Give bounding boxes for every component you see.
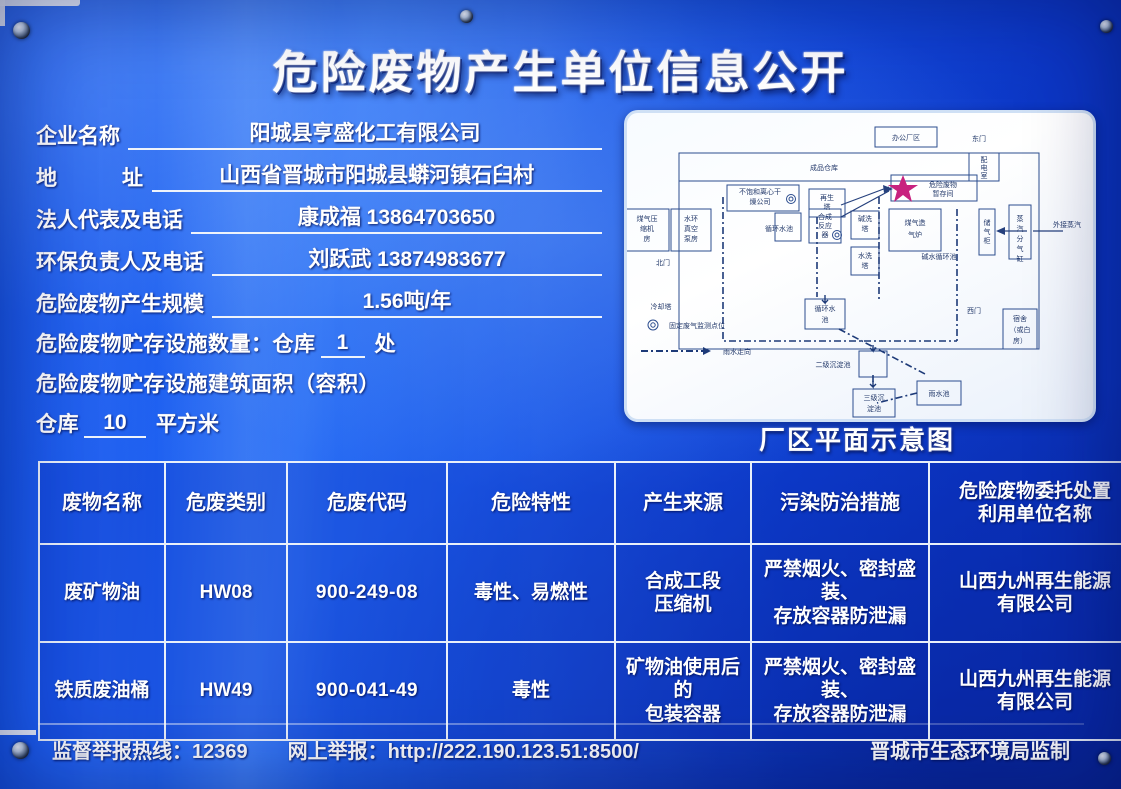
diagram-legend-text-1: 固定废气监测点位 — [669, 321, 725, 330]
diagram-label-external-steam: 外接蒸汽 — [1053, 220, 1081, 229]
diagram-label-compressor-1: 煤气压 — [637, 214, 658, 223]
diagram-label-separator-4: 气 — [1017, 244, 1024, 253]
th-entrusted-unit-line1: 危险废物委托处置 — [933, 480, 1121, 503]
value-generation-scale: 1.56吨/年 — [212, 285, 602, 318]
hazardous-waste-table: 废物名称 危废类别 危废代码 危险特性 产生来源 污染防治措施 危险废物委托处置… — [38, 461, 1121, 741]
cell-unit-line1: 山西九州再生能源 — [933, 570, 1121, 593]
diagram-label-third-sediment-2: 淀池 — [867, 404, 881, 413]
th-waste-code: 危废代码 — [287, 462, 447, 544]
cell-control-measures: 严禁烟火、密封盛装、 存放容器防泄漏 — [751, 642, 929, 740]
cell-waste-code: 900-041-49 — [287, 642, 447, 740]
value-storage-count: 1 — [321, 331, 365, 358]
diagram-label-west-gate: 西门 — [967, 306, 981, 315]
diagram-label-third-sediment-1: 三级沉 — [864, 393, 885, 402]
cell-hazard-property: 毒性 — [447, 642, 615, 740]
diagram-label-alkali-2: 塔 — [862, 224, 869, 233]
label-storage-area: 危险废物贮存设施建筑面积（容积） — [36, 368, 380, 398]
diagram-label-power-room: 配 — [981, 156, 988, 164]
diagram-label-gas-cabinet-3: 柜 — [984, 236, 991, 245]
diagram-label-north-gate: 北门 — [656, 258, 670, 267]
diagram-legend-text-2: 雨水走向 — [723, 347, 751, 356]
cell-source-line2: 压缩机 — [619, 593, 747, 616]
diagram-label-gas-cabinet-1: 储 — [984, 218, 991, 227]
field-address: 地 址 山西省晋城市阳城县蟒河镇石臼村 — [36, 150, 602, 192]
cell-control-line2: 存放容器防泄漏 — [755, 605, 925, 628]
diagram-label-hazard-store-2: 暂存间 — [933, 189, 954, 198]
footer-divider — [38, 723, 1084, 725]
field-storage-area-title: 危险废物贮存设施建筑面积（容积） — [36, 358, 602, 398]
cell-entrusted-unit: 山西九州再生能源 有限公司 — [929, 642, 1121, 740]
value-warehouse-area: 10 — [84, 411, 146, 438]
diagram-label-dorm-3: 房） — [1013, 336, 1027, 345]
label-environment-officer: 环保负责人及电话 — [36, 246, 204, 276]
hazard-storage-star-icon — [888, 175, 918, 202]
label-storage-count: 危险废物贮存设施数量：仓库 — [36, 328, 316, 358]
cell-unit-line1: 山西九州再生能源 — [933, 668, 1121, 691]
diagram-label-circ-pool-2a: 循环水 — [815, 304, 836, 313]
diagram-label-second-sediment: 二级沉淀池 — [816, 360, 851, 369]
diagram-label-waterwash-1: 水洗 — [858, 251, 872, 260]
value-address: 山西省晋城市阳城县蟒河镇石臼村 — [152, 159, 603, 192]
diagram-label-waterwash-2: 塔 — [862, 261, 869, 270]
diagram-label-dorm-2: （或白 — [1010, 325, 1031, 334]
field-storage-count: 危险废物贮存设施数量：仓库 1 处 — [36, 318, 602, 358]
cell-source-line1: 合成工段 — [619, 570, 747, 593]
diagram-label-alkali-circulation: 碱水循环池 — [922, 252, 957, 261]
diagram-label-cooling-tower: 冷却塔 — [651, 302, 672, 311]
footer-online-report: 网上举报：http://222.190.123.51:8500/ — [288, 735, 639, 764]
label-legal-representative: 法人代表及电话 — [36, 204, 183, 234]
diagram-label-east-gate: 东门 — [972, 134, 986, 143]
table-row: 铁质废油桶 HW49 900-041-49 毒性 矿物油使用后的 包装容器 严禁… — [39, 642, 1121, 740]
diagram-label-regeneration-2: 塔 — [824, 202, 831, 211]
field-generation-scale: 危险废物产生规模 1.56吨/年 — [36, 276, 602, 318]
th-entrusted-unit-line2: 利用单位名称 — [933, 503, 1121, 526]
mounting-bolt-top-right — [1100, 20, 1113, 33]
diagram-label-rain-pool: 雨水池 — [929, 389, 950, 398]
diagram-label-circ-pool-1: 循环水池 — [765, 224, 793, 233]
diagram-label-unsaturated-2: 燥公司 — [750, 197, 771, 206]
diagram-label-separator-5: 缸 — [1017, 254, 1024, 263]
cell-source-line1: 矿物油使用后的 — [619, 656, 747, 702]
diagram-caption: 厂区平面示意图 — [624, 420, 1090, 457]
diagram-label-gas-cabinet-2: 气 — [984, 227, 991, 236]
diagram-label-dorm-1: 宿舍 — [1013, 314, 1027, 323]
diagram-label-alkali-1: 碱洗 — [858, 214, 872, 223]
cell-entrusted-unit: 山西九州再生能源 有限公司 — [929, 544, 1121, 642]
diagram-label-separator-1: 蒸 — [1017, 214, 1024, 223]
cell-waste-category: HW08 — [165, 544, 287, 642]
cell-control-line1: 严禁烟火、密封盛装、 — [755, 656, 925, 702]
th-waste-name: 废物名称 — [39, 462, 165, 544]
diagram-label-gas-furnace-1: 煤气造 — [905, 218, 926, 227]
mounting-bolt-bottom-right — [1098, 752, 1111, 765]
field-legal-representative: 法人代表及电话 康成福 13864703650 — [36, 192, 602, 234]
diagram-label-synthesis-1: 合成 — [818, 212, 832, 221]
cell-unit-line2: 有限公司 — [933, 691, 1121, 714]
panel-edge-bottom-left — [0, 730, 36, 735]
th-waste-category: 危废类别 — [165, 462, 287, 544]
value-legal-representative: 康成福 13864703650 — [191, 201, 602, 234]
diagram-label-office-area: 办公厂区 — [892, 133, 920, 142]
mounting-bolt-top-center — [460, 10, 473, 23]
cell-control-line1: 严禁烟火、密封盛装、 — [755, 558, 925, 604]
th-hazard-property: 危险特性 — [447, 462, 615, 544]
label-company-name: 企业名称 — [36, 120, 120, 150]
value-environment-officer: 刘跃武 13874983677 — [212, 243, 602, 276]
th-control-measures: 污染防治措施 — [751, 462, 929, 544]
diagram-label-compressor-3: 房 — [644, 234, 651, 243]
diagram-label-vacuum-1: 水环 — [684, 214, 698, 223]
diagram-label-vacuum-2: 真空 — [684, 224, 698, 233]
cell-control-measures: 严禁烟火、密封盛装、 存放容器防泄漏 — [751, 544, 929, 642]
diagram-label-synthesis-3: 器 — [822, 231, 829, 239]
table-header-row: 废物名称 危废类别 危废代码 危险特性 产生来源 污染防治措施 危险废物委托处置… — [39, 462, 1121, 544]
cell-waste-name: 铁质废油桶 — [39, 642, 165, 740]
diagram-label-hazard-store-1: 危险废物 — [929, 180, 957, 189]
cell-waste-name: 废矿物油 — [39, 544, 165, 642]
diagram-label-unsaturated-1: 不饱和离心干 — [739, 187, 781, 196]
table-row: 废矿物油 HW08 900-249-08 毒性、易燃性 合成工段 压缩机 严禁烟… — [39, 544, 1121, 642]
footer-hotline: 监督举报热线：12369 — [52, 735, 248, 764]
diagram-label-separator-2: 汽 — [1017, 224, 1024, 233]
diagram-label-power-room-3: 室 — [981, 171, 988, 180]
unit-warehouse-area: 平方米 — [156, 408, 219, 438]
field-company-name: 企业名称 阳城县亨盛化工有限公司 — [36, 108, 602, 150]
th-source: 产生来源 — [615, 462, 751, 544]
field-warehouse-area: 仓库 10 平方米 — [36, 398, 602, 438]
diagram-label-separator-3: 分 — [1017, 234, 1024, 243]
diagram-label-compressor-2: 缩机 — [640, 224, 654, 233]
cell-waste-code: 900-249-08 — [287, 544, 447, 642]
arrow-head-steam — [996, 227, 1005, 235]
diagram-label-synthesis-2: 反应 — [818, 221, 832, 230]
footer-authority: 晋城市生态环境局监制 — [870, 735, 1070, 764]
field-environment-officer: 环保负责人及电话 刘跃武 13874983677 — [36, 234, 602, 276]
information-board: 危险废物产生单位信息公开 企业名称 阳城县亨盛化工有限公司 地 址 山西省晋城市… — [0, 0, 1121, 789]
cell-hazard-property: 毒性、易燃性 — [447, 544, 615, 642]
diagram-label-finished-warehouse: 成品仓库 — [810, 163, 838, 172]
label-warehouse: 仓库 — [36, 408, 79, 438]
factory-layout-diagram: 成品仓库 配 电 室 办公厂区 东门 危险废物 暂存间 再生 塔 不饱和离心干 … — [624, 110, 1096, 422]
cell-unit-line2: 有限公司 — [933, 593, 1121, 616]
cell-source: 矿物油使用后的 包装容器 — [615, 642, 751, 740]
th-entrusted-unit: 危险废物委托处置 利用单位名称 — [929, 462, 1121, 544]
label-address: 地 址 — [36, 162, 144, 192]
legend-rain-arrow-icon — [641, 347, 711, 355]
unit-storage-count: 处 — [375, 328, 396, 358]
diagram-label-gas-furnace-2: 气炉 — [908, 230, 922, 239]
diagram-label-regeneration-1: 再生 — [820, 193, 834, 202]
diagram-label-power-room-2: 电 — [981, 163, 988, 172]
panel-edge-left — [0, 0, 5, 26]
footer-bar: 监督举报热线：12369 网上举报：http://222.190.123.51:… — [38, 735, 1084, 764]
page-title: 危险废物产生单位信息公开 — [0, 36, 1121, 101]
mounting-bolt-bottom-left — [12, 742, 29, 759]
diagram-label-vacuum-3: 泵房 — [684, 234, 698, 243]
value-company-name: 阳城县亨盛化工有限公司 — [128, 117, 602, 150]
monitoring-point-icon — [648, 195, 842, 331]
cell-waste-category: HW49 — [165, 642, 287, 740]
cell-source: 合成工段 压缩机 — [615, 544, 751, 642]
panel-edge-top — [0, 0, 80, 6]
factory-layout-svg: 成品仓库 配 电 室 办公厂区 东门 危险废物 暂存间 再生 塔 不饱和离心干 … — [627, 113, 1093, 419]
label-generation-scale: 危险废物产生规模 — [36, 288, 204, 318]
diagram-label-circ-pool-2b: 池 — [822, 315, 829, 324]
facility-info-form: 企业名称 阳城县亨盛化工有限公司 地 址 山西省晋城市阳城县蟒河镇石臼村 法人代… — [36, 108, 602, 438]
